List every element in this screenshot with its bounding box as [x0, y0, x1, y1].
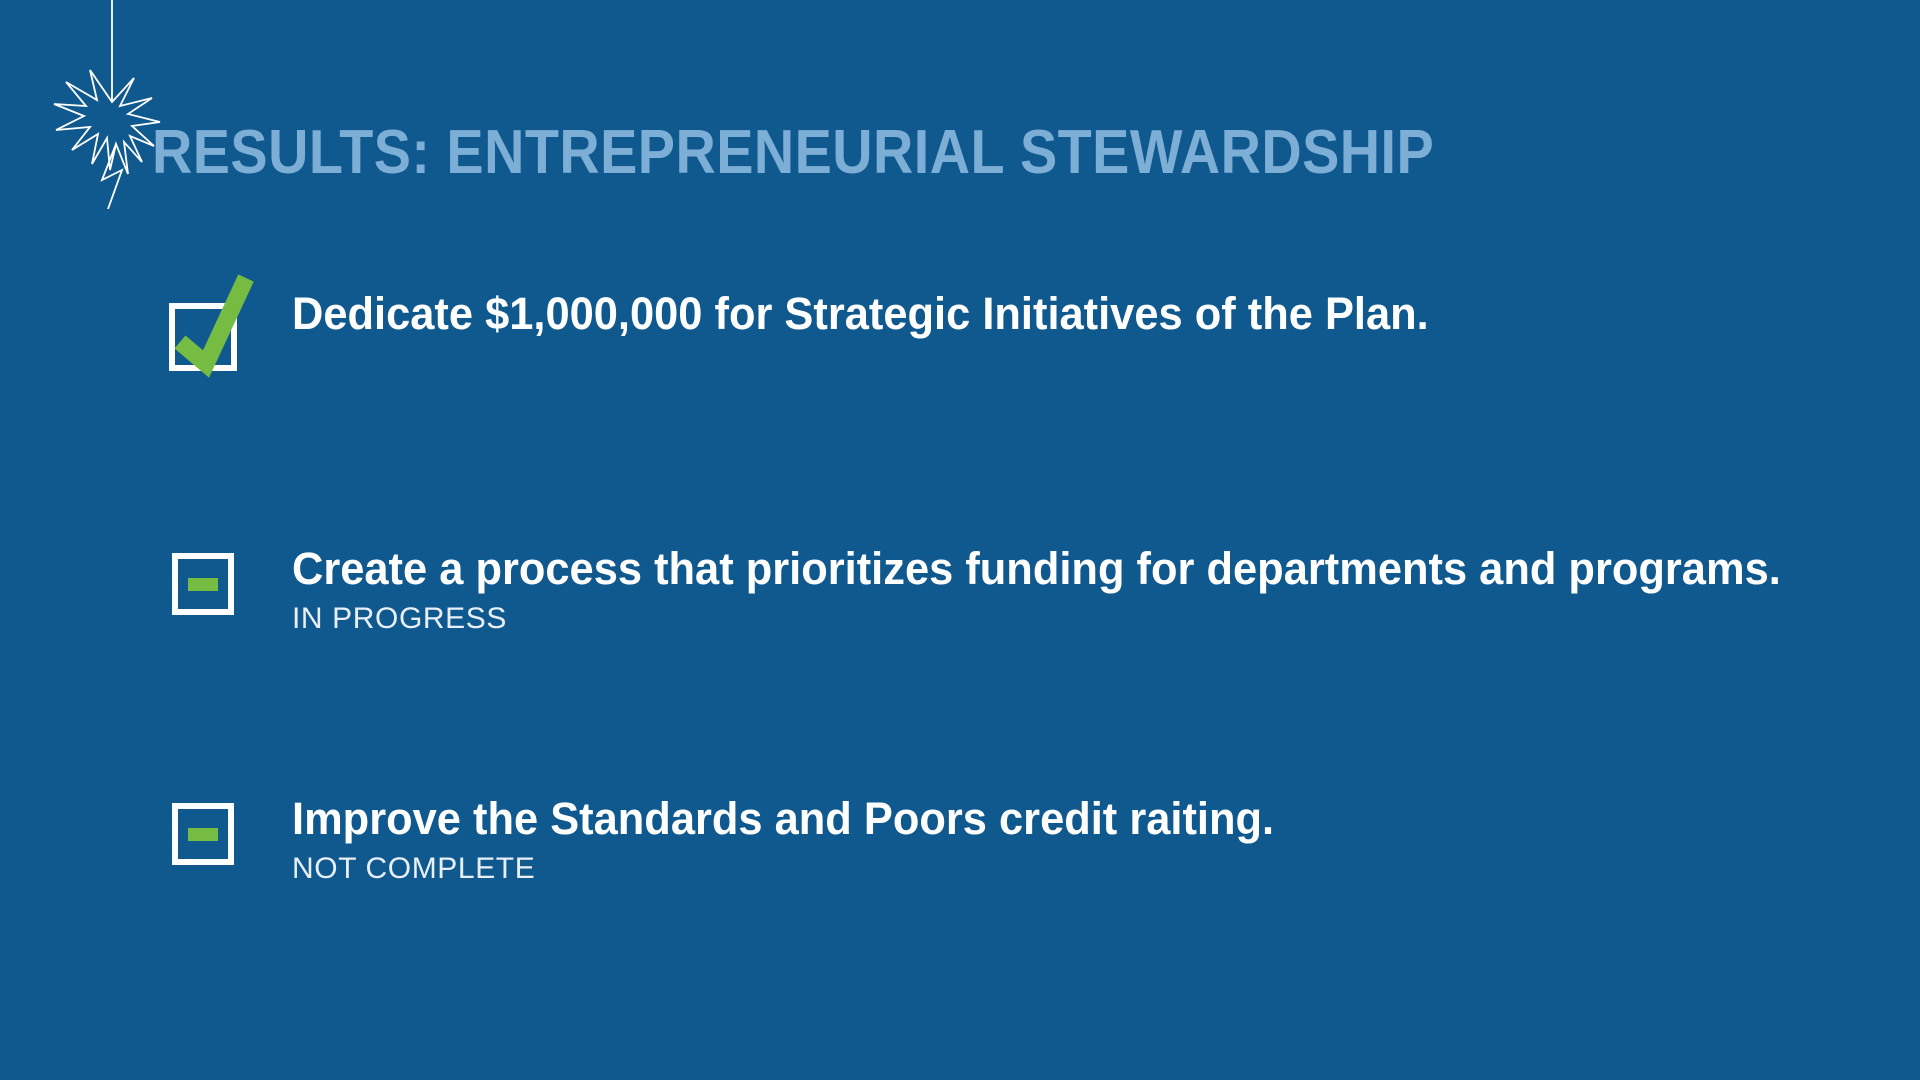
minus-box-icon [172, 553, 234, 615]
dash-checkbox-icon [172, 553, 242, 623]
list-item-text-group: Dedicate $1,000,000 for Strategic Initia… [292, 290, 1470, 337]
list-item: Improve the Standards and Poors credit r… [172, 795, 1310, 887]
list-item: Dedicate $1,000,000 for Strategic Initia… [172, 290, 1470, 368]
status-badge: IN PROGRESS [292, 601, 1835, 637]
slide-canvas: RESULTS: ENTREPRENEURIAL STEWARDSHIP Ded… [0, 0, 1920, 1080]
checkmark-icon [154, 256, 274, 376]
page-title: RESULTS: ENTREPRENEURIAL STEWARDSHIP [152, 122, 1434, 184]
list-item-label: Create a process that prioritizes fundin… [292, 545, 1781, 592]
list-item-label: Dedicate $1,000,000 for Strategic Initia… [292, 290, 1429, 337]
minus-box-icon [172, 803, 234, 865]
dash-checkbox-icon [172, 803, 242, 873]
list-item-label: Improve the Standards and Poors credit r… [292, 795, 1274, 842]
checked-checkbox-icon [172, 298, 242, 368]
page-title-row: RESULTS: ENTREPRENEURIAL STEWARDSHIP [152, 118, 1577, 188]
list-item-text-group: Improve the Standards and Poors credit r… [292, 795, 1310, 887]
list-item: Create a process that prioritizes fundin… [172, 545, 1835, 637]
list-item-text-group: Create a process that prioritizes fundin… [292, 545, 1835, 637]
status-badge: NOT COMPLETE [292, 851, 1310, 887]
